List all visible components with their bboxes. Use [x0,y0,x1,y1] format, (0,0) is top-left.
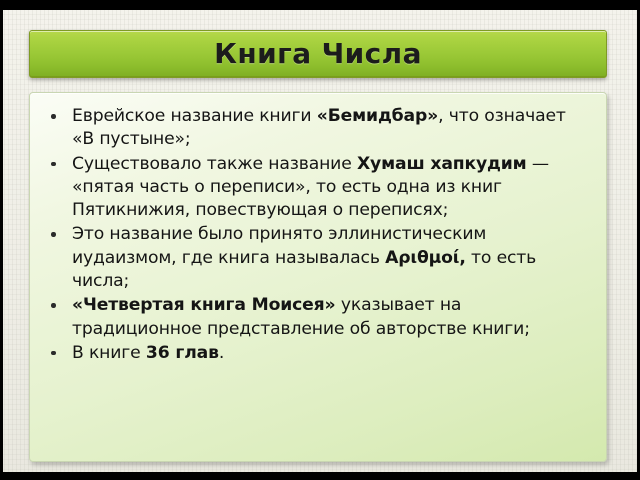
bullet-emphasis-text: «Бемидбар» [317,106,438,126]
bullet-dot-icon [51,114,56,119]
slide-title-plate: Книга Числа [29,30,607,78]
bullet-emphasis-text: «Четвертая книга Моисея» [72,295,336,315]
bullet-text: Еврейское название книги [72,106,317,126]
bullet-dot-icon [51,303,56,308]
letterbox-bar-top [0,0,640,10]
letterbox-bar-left [0,0,3,480]
bullet-fourth-book-moses: «Четвертая книга Моисея» указывает на тр… [46,294,592,341]
bullet-dot-icon [51,351,56,356]
bullet-emphasis-text: 36 глав [146,343,219,363]
bullet-dot-icon [51,232,56,237]
slide-content-box: Еврейское название книги «Бемидбар», что… [29,92,607,462]
bullet-arithmoi: Это название было принято эллинистически… [46,223,592,293]
bullet-hebrew-name: Еврейское название книги «Бемидбар», что… [46,105,592,152]
bullet-text: В книге [72,343,146,363]
bullet-emphasis-text: Хумаш хапкудим [357,154,527,174]
bullet-text: Существовало также название [72,154,357,174]
bullet-emphasis-text: Αριθμοί, [385,248,466,268]
bullet-humash-hapkudim: Существовало также название Хумаш хапкуд… [46,153,592,223]
slide-title: Книга Числа [214,40,422,68]
bullet-chapters: В книге 36 глав. [46,342,592,365]
letterbox-bar-bottom [0,472,640,480]
presentation-slide: Книга Числа Еврейское название книги «Бе… [0,0,640,480]
bullet-list: Еврейское название книги «Бемидбар», что… [46,105,592,365]
bullet-text: . [219,343,224,363]
bullet-dot-icon [51,162,56,167]
